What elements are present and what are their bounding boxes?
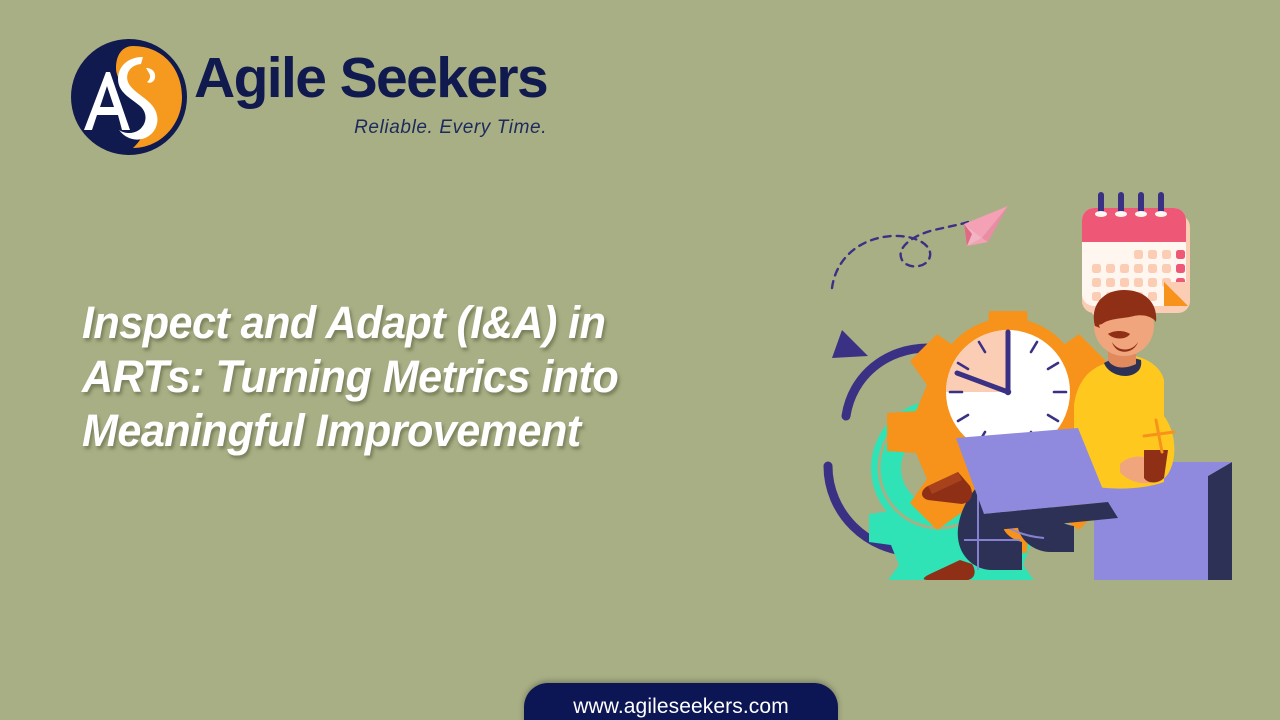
headline-line-3: Meaningful Improvement xyxy=(82,404,716,458)
paper-plane-icon xyxy=(964,206,1008,246)
website-url-pill[interactable]: www.agileseekers.com xyxy=(524,683,838,720)
headline-line-2: ARTs: Turning Metrics into xyxy=(82,350,716,404)
brand-logo[interactable]: Agile Seekers Reliable. Every Time. xyxy=(70,38,547,156)
brand-name: Agile Seekers xyxy=(194,50,547,107)
hero-illustration xyxy=(812,180,1232,580)
page-title: Inspect and Adapt (I&A) in ARTs: Turning… xyxy=(82,296,742,458)
dashed-flight-path xyxy=(832,222,968,288)
headline-line-1: Inspect and Adapt (I&A) in xyxy=(82,296,716,350)
website-url-text: www.agileseekers.com xyxy=(573,696,789,719)
brand-lockup-text: Agile Seekers Reliable. Every Time. xyxy=(194,38,547,139)
banner-canvas: Agile Seekers Reliable. Every Time. Insp… xyxy=(0,0,1280,720)
brand-tagline: Reliable. Every Time. xyxy=(354,117,547,139)
agile-seekers-monogram-icon xyxy=(70,38,188,156)
